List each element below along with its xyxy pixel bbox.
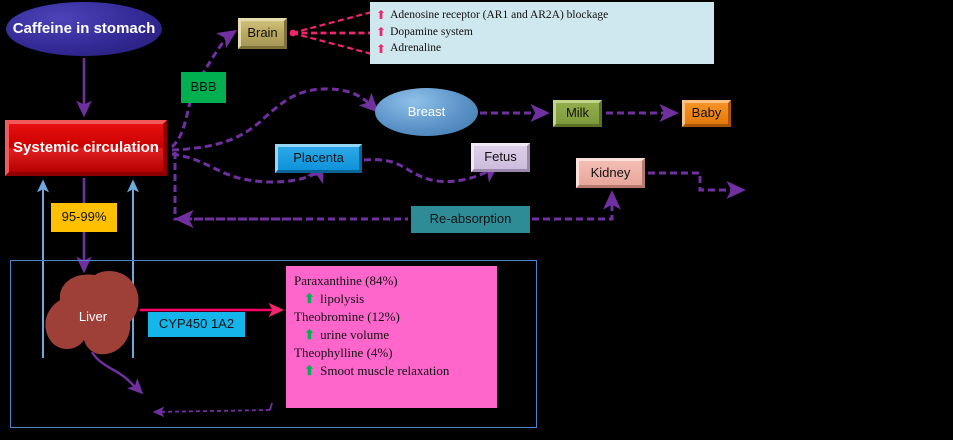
node-systemic-circulation[interactable]: Systemic circulation [5, 120, 167, 176]
node-fetus[interactable]: Fetus [471, 143, 530, 172]
node-baby-label: Baby [692, 106, 722, 121]
callout-line: ⬆ Adrenaline [376, 40, 708, 57]
metabolite-line: ⬆ lipolysis [294, 290, 489, 308]
node-caffeine-label: Caffeine in stomach [13, 20, 156, 37]
node-breast[interactable]: Breast [375, 88, 478, 136]
node-brain[interactable]: Brain [238, 18, 287, 49]
node-milk-label: Milk [566, 106, 589, 121]
node-liver-label: Liver [79, 310, 107, 325]
callout-line-text: Adrenaline [390, 40, 441, 57]
edge-brain-to-callout-1 [292, 12, 372, 33]
metabolite-text: Smoot muscle relaxation [320, 363, 449, 378]
metabolites-panel: Paraxanthine (84%) ⬆ lipolysis Theobromi… [286, 266, 497, 408]
cyp450-label: CYP450 1A2 [159, 317, 234, 332]
up-arrow-icon: ⬆ [376, 9, 386, 21]
node-absorption-percent[interactable]: 95-99% [51, 203, 117, 232]
up-arrow-icon: ⬆ [376, 43, 386, 55]
caffeine-pharmacokinetics-diagram: Caffeine in stomach Systemic circulation… [0, 0, 953, 440]
metabolite-text: lipolysis [320, 291, 364, 306]
node-systemic-label: Systemic circulation [13, 139, 159, 156]
node-re-absorption-label: Re-absorption [430, 212, 512, 227]
callout-line-text: Dopamine system [390, 24, 473, 41]
metabolite-line: Paraxanthine (84%) [294, 272, 489, 290]
brain-callout-junction [290, 30, 297, 37]
metabolite-text: Theophylline (4%) [294, 345, 393, 360]
edge-kidney-to-excretion [648, 173, 742, 190]
node-re-absorption[interactable]: Re-absorption [411, 206, 530, 233]
up-arrow-icon: ⬆ [304, 363, 315, 378]
up-arrow-icon: ⬆ [304, 327, 315, 342]
edge-brain-to-callout-3 [292, 33, 372, 54]
absorption-percent-label: 95-99% [62, 210, 107, 225]
node-kidney[interactable]: Kidney [576, 158, 645, 188]
metabolite-line: Theobromine (12%) [294, 308, 489, 326]
node-bbb[interactable]: BBB [181, 72, 226, 103]
node-liver[interactable]: Liver [43, 275, 143, 360]
edge-reabsorption-to-kidney [532, 194, 612, 219]
node-brain-label: Brain [247, 26, 277, 41]
callout-line-text: Adenosine receptor (AR1 and AR2A) blocka… [390, 7, 608, 24]
node-breast-label: Breast [408, 105, 446, 120]
node-bbb-label: BBB [190, 80, 216, 95]
node-caffeine-in-stomach[interactable]: Caffeine in stomach [6, 2, 162, 56]
node-baby[interactable]: Baby [682, 100, 731, 127]
up-arrow-icon: ⬆ [304, 291, 315, 306]
brain-effects-callout: ⬆ Adenosine receptor (AR1 and AR2A) bloc… [370, 2, 714, 64]
metabolite-text: Theobromine (12%) [294, 309, 400, 324]
node-cyp450-1a2[interactable]: CYP450 1A2 [148, 312, 245, 337]
metabolite-line: Theophylline (4%) [294, 344, 489, 362]
up-arrow-icon: ⬆ [376, 26, 386, 38]
metabolite-line: ⬆ Smoot muscle relaxation [294, 362, 489, 380]
callout-line: ⬆ Dopamine system [376, 24, 708, 41]
metabolite-text: Paraxanthine (84%) [294, 273, 398, 288]
node-placenta[interactable]: Placenta [275, 144, 362, 173]
metabolite-line: ⬆ urine volume [294, 326, 489, 344]
node-kidney-label: Kidney [591, 166, 631, 181]
metabolite-text: urine volume [320, 327, 389, 342]
node-milk[interactable]: Milk [553, 100, 602, 127]
node-fetus-label: Fetus [484, 150, 517, 165]
node-placenta-label: Placenta [293, 151, 344, 166]
callout-line: ⬆ Adenosine receptor (AR1 and AR2A) bloc… [376, 7, 708, 24]
